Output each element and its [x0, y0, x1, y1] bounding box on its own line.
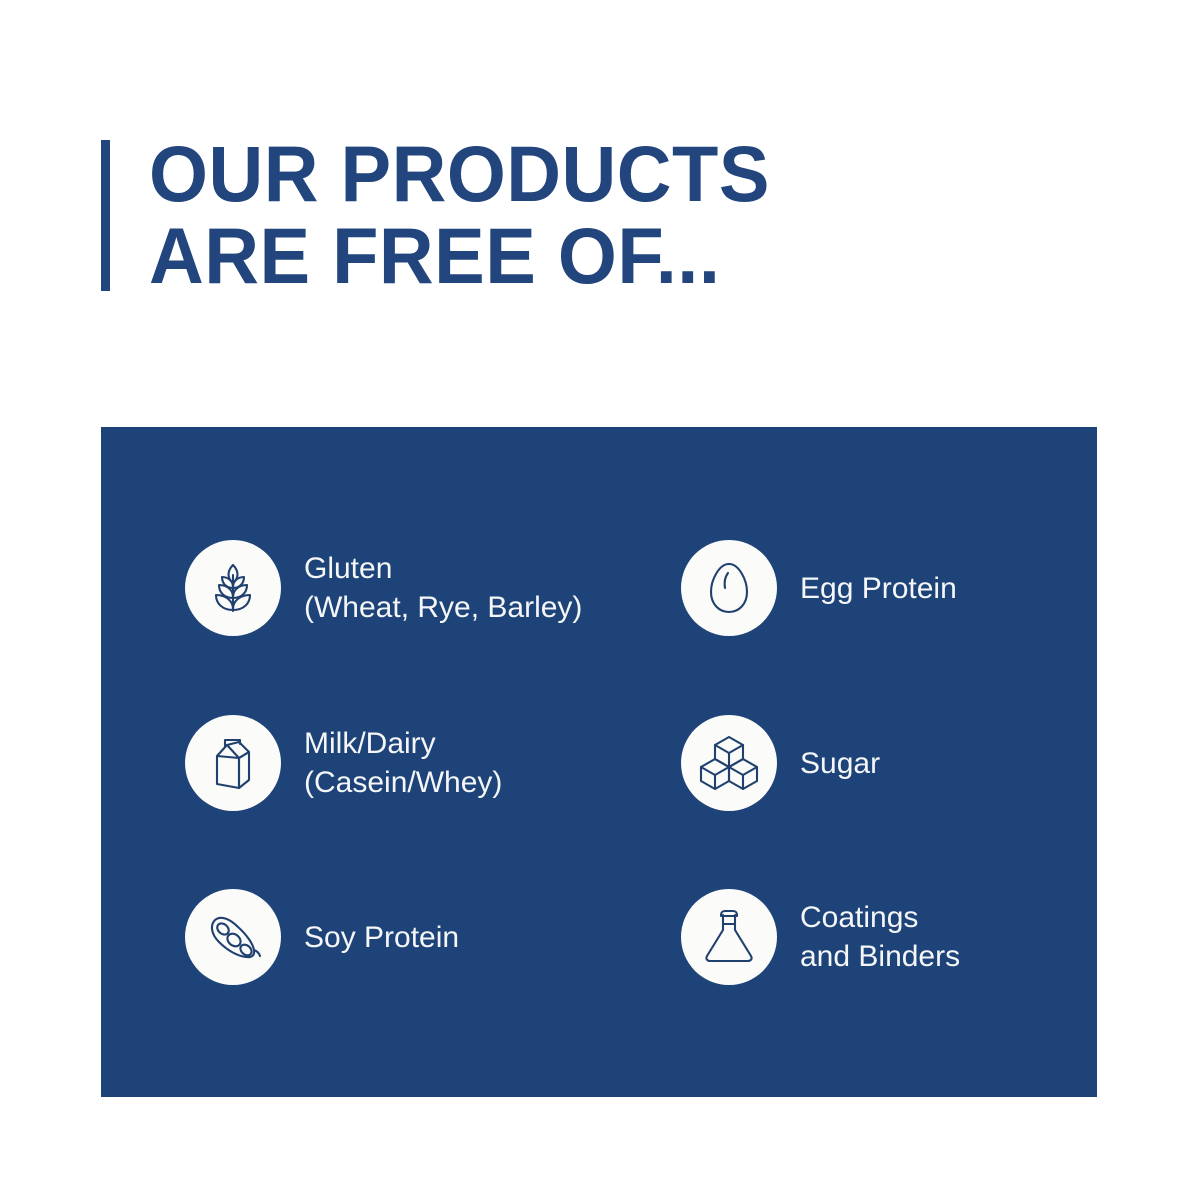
- list-item-label-line-1: Gluten: [304, 549, 582, 588]
- list-item-label-line-1: Coatings: [800, 898, 960, 937]
- page-title-line-2: ARE FREE OF...: [149, 215, 770, 297]
- milk-carton-icon: [185, 715, 281, 811]
- list-item-label-line-1: Milk/Dairy: [304, 724, 502, 763]
- list-item-milk-dairy: Milk/Dairy (Casein/Whey): [185, 715, 502, 811]
- list-item-label-line-1: Sugar: [800, 744, 880, 783]
- list-item-label-line-1: Egg Protein: [800, 569, 957, 608]
- free-of-item-grid: Gluten (Wheat, Rye, Barley) Egg Protein: [101, 427, 1097, 1097]
- list-item-egg-protein: Egg Protein: [681, 540, 957, 636]
- list-item-soy-protein: Soy Protein: [185, 889, 459, 985]
- egg-icon: [681, 540, 777, 636]
- title-accent-bar: [101, 140, 110, 291]
- list-item-gluten: Gluten (Wheat, Rye, Barley): [185, 540, 582, 636]
- list-item-coatings-and-binders: Coatings and Binders: [681, 889, 960, 985]
- infographic-canvas: OUR PRODUCTS ARE FREE OF...: [0, 0, 1200, 1200]
- list-item-label: Egg Protein: [800, 569, 957, 608]
- page-title: OUR PRODUCTS ARE FREE OF...: [101, 133, 796, 297]
- list-item-label-line-2: and Binders: [800, 937, 960, 976]
- page-title-text: OUR PRODUCTS ARE FREE OF...: [149, 133, 770, 297]
- list-item-label-line-2: (Casein/Whey): [304, 763, 502, 802]
- list-item-label-line-2: (Wheat, Rye, Barley): [304, 588, 582, 627]
- soybean-pod-icon: [185, 889, 281, 985]
- wheat-icon: [185, 540, 281, 636]
- list-item-label: Coatings and Binders: [800, 898, 960, 976]
- list-item-label: Milk/Dairy (Casein/Whey): [304, 724, 502, 802]
- sugar-cubes-icon: [681, 715, 777, 811]
- list-item-label: Gluten (Wheat, Rye, Barley): [304, 549, 582, 627]
- list-item-label: Sugar: [800, 744, 880, 783]
- list-item-sugar: Sugar: [681, 715, 880, 811]
- list-item-label: Soy Protein: [304, 918, 459, 957]
- page-title-line-1: OUR PRODUCTS: [149, 133, 770, 215]
- list-item-label-line-1: Soy Protein: [304, 918, 459, 957]
- flask-icon: [681, 889, 777, 985]
- free-of-panel: Gluten (Wheat, Rye, Barley) Egg Protein: [101, 427, 1097, 1097]
